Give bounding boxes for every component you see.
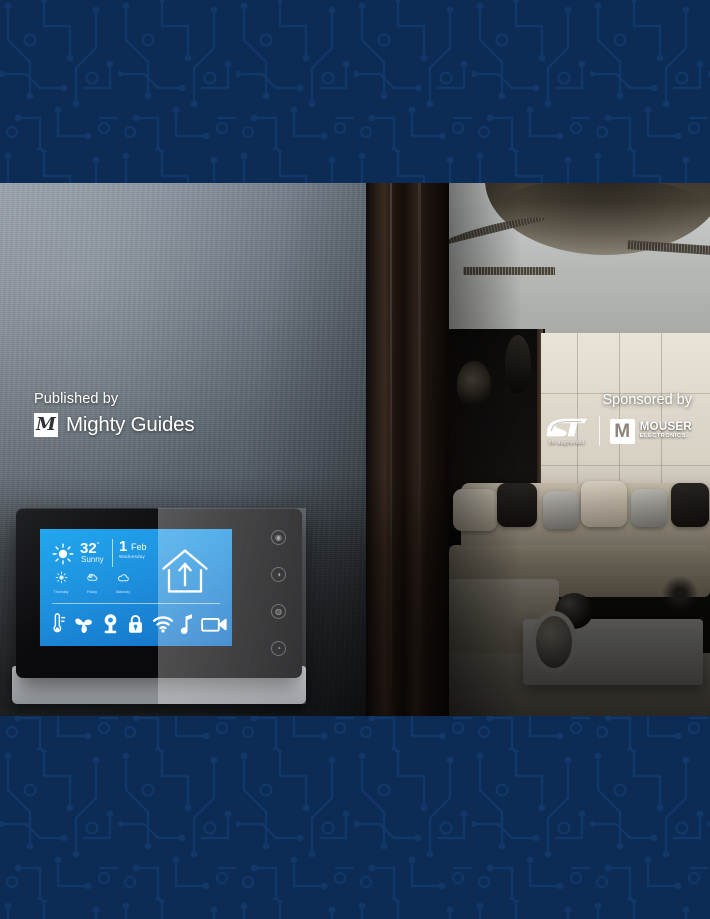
phone-key[interactable]: ◑	[271, 567, 286, 582]
sponsored-by-block: Sponsored by life.augmented M MOU	[545, 392, 692, 446]
photo-interior-room	[449, 183, 710, 716]
st-tagline: life.augmented	[549, 440, 585, 446]
cloudy-icon	[117, 571, 130, 584]
cover-page: 32° Sunny 1 Feb Wednesday	[0, 0, 710, 919]
mouser-subtitle: ELECTRONICS.	[640, 434, 692, 440]
forecast-item: Saturday	[112, 571, 134, 594]
device-body: 32° Sunny 1 Feb Wednesday	[16, 508, 302, 678]
temperature-value: 32°	[80, 541, 100, 556]
house-arrow-icon[interactable]	[158, 547, 212, 595]
degree-symbol: °	[97, 542, 100, 549]
video-camera-icon[interactable]	[201, 615, 227, 634]
date-weekday: Wednesday	[119, 555, 145, 560]
music-note-icon[interactable]	[180, 613, 195, 635]
power-key[interactable]: ◉	[271, 530, 286, 545]
forecast-label: Thursday	[50, 590, 72, 594]
thermometer-icon[interactable]	[49, 613, 66, 635]
screen-separator	[52, 603, 220, 604]
screen-divider	[112, 539, 113, 567]
sun-icon	[55, 571, 68, 584]
forecast-item: Friday	[81, 571, 103, 594]
bell-key[interactable]: ◔	[271, 641, 286, 656]
forecast-label: Saturday	[112, 590, 134, 594]
mouser-mark-icon: M	[610, 419, 635, 444]
sponsored-by-label: Sponsored by	[545, 392, 692, 408]
mouser-logo[interactable]: M MOUSER ELECTRONICS.	[610, 419, 692, 444]
partly-cloudy-icon	[86, 571, 99, 584]
sponsor-logos-row: life.augmented M MOUSER ELECTRONICS.	[545, 416, 692, 446]
device-touch-keys: ◉ ◑ ◍ ◔	[271, 530, 286, 656]
st-logo-glyph	[545, 417, 589, 438]
forecast-label: Friday	[81, 590, 103, 594]
forecast-row: Thursday Friday	[50, 571, 134, 594]
date-day-number: 1	[119, 539, 127, 554]
screen-control-icons	[49, 613, 227, 635]
sun-icon	[52, 543, 74, 565]
published-by-block: Published by M Mighty Guides	[34, 391, 194, 437]
mighty-guides-wordmark: Mighty Guides	[66, 413, 194, 437]
wifi-icon[interactable]	[152, 614, 174, 634]
sponsor-divider	[599, 416, 600, 446]
cover-image-band: 32° Sunny 1 Feb Wednesday	[0, 183, 710, 716]
weather-condition: Sunny	[81, 556, 104, 564]
photo-wood-column	[366, 183, 452, 716]
st-logo[interactable]: life.augmented	[545, 417, 589, 446]
info-key[interactable]: ◍	[271, 604, 286, 619]
st-mark-icon	[545, 417, 589, 438]
lock-icon[interactable]	[126, 613, 145, 635]
device-screen[interactable]: 32° Sunny 1 Feb Wednesday	[40, 529, 232, 646]
mighty-guides-mark-icon: M	[34, 413, 58, 437]
date-month: Feb	[131, 543, 147, 552]
mighty-guides-logo[interactable]: M Mighty Guides	[34, 413, 194, 437]
fan-icon[interactable]	[72, 613, 95, 635]
camera-icon[interactable]	[101, 613, 120, 635]
forecast-item: Thursday	[50, 571, 72, 594]
smart-home-control-panel: 32° Sunny 1 Feb Wednesday	[12, 508, 306, 710]
room-vignette	[449, 183, 710, 716]
published-by-label: Published by	[34, 391, 194, 407]
